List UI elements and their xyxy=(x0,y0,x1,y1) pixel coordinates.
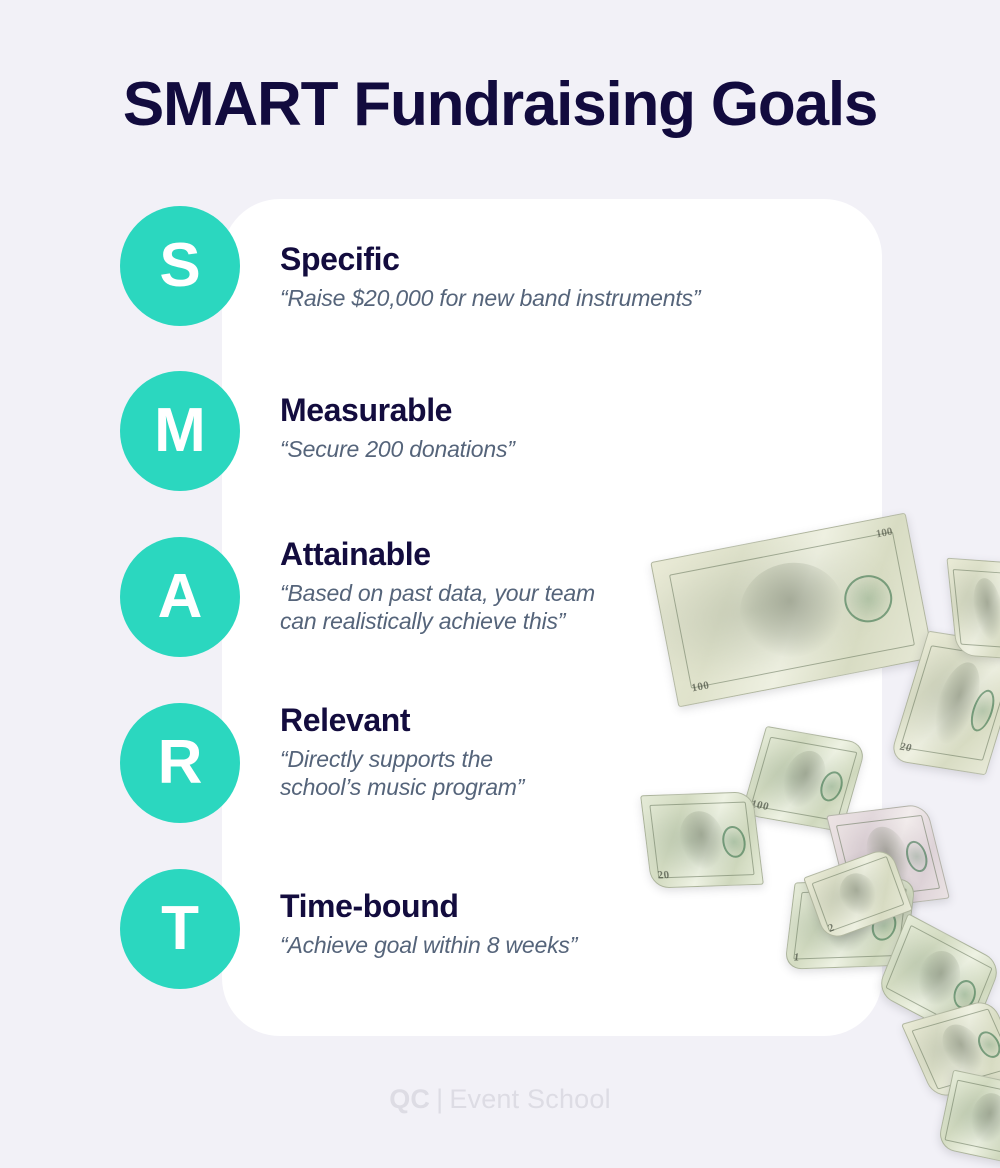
dollar-bill-stack-d xyxy=(946,558,1000,661)
brand-name: QC xyxy=(389,1084,430,1114)
goal-letter-badge-m: M xyxy=(120,371,240,491)
footer-brand-logo: QC|Event School xyxy=(0,1084,1000,1115)
goal-quote: “Directly supports the school’s music pr… xyxy=(280,745,880,801)
goal-text-block: Time-bound “Achieve goal within 8 weeks” xyxy=(280,889,880,959)
goal-text-block: Attainable “Based on past data, your tea… xyxy=(280,537,880,635)
goal-row-specific[interactable]: S Specific “Raise $20,000 for new band i… xyxy=(120,206,880,326)
goal-quote: “Secure 200 donations” xyxy=(280,435,880,463)
goal-letter-badge-s: S xyxy=(120,206,240,326)
dollar-bill-20-right: 20 xyxy=(889,631,1000,776)
goal-heading: Attainable xyxy=(280,537,880,572)
goal-quote: “Raise $20,000 for new band instruments” xyxy=(280,284,880,312)
smart-goals-infographic: SMART Fundraising Goals 100 100 100 20 2… xyxy=(0,0,1000,1168)
goal-text-block: Specific “Raise $20,000 for new band ins… xyxy=(280,242,880,312)
goal-letter-badge-a: A xyxy=(120,537,240,657)
goal-heading: Specific xyxy=(280,242,880,277)
bill-denomination-label: 20 xyxy=(898,741,913,754)
bill-seal-icon xyxy=(974,1029,1000,1060)
goal-heading: Measurable xyxy=(280,393,880,428)
goal-row-relevant[interactable]: R Relevant “Directly supports the school… xyxy=(120,703,880,823)
goal-text-block: Relevant “Directly supports the school’s… xyxy=(280,703,880,801)
bill-seal-icon xyxy=(949,976,979,1013)
brand-subtitle: Event School xyxy=(449,1084,611,1114)
goal-letter-badge-t: T xyxy=(120,869,240,989)
page-title: SMART Fundraising Goals xyxy=(0,72,1000,137)
bill-seal-icon xyxy=(902,839,931,873)
dollar-bill-stack-a xyxy=(876,913,1000,1043)
goal-row-time-bound[interactable]: T Time-bound “Achieve goal within 8 week… xyxy=(120,869,880,989)
goal-quote: “Based on past data, your team can reali… xyxy=(280,579,880,635)
goal-text-block: Measurable “Secure 200 donations” xyxy=(280,393,880,463)
goal-heading: Time-bound xyxy=(280,889,880,924)
goal-heading: Relevant xyxy=(280,703,880,738)
goal-quote: “Achieve goal within 8 weeks” xyxy=(280,931,880,959)
goal-letter-badge-r: R xyxy=(120,703,240,823)
brand-separator: | xyxy=(430,1084,449,1114)
goal-row-attainable[interactable]: A Attainable “Based on past data, your t… xyxy=(120,537,880,657)
bill-seal-icon xyxy=(967,688,1000,733)
goal-row-measurable[interactable]: M Measurable “Secure 200 donations” xyxy=(120,371,880,491)
